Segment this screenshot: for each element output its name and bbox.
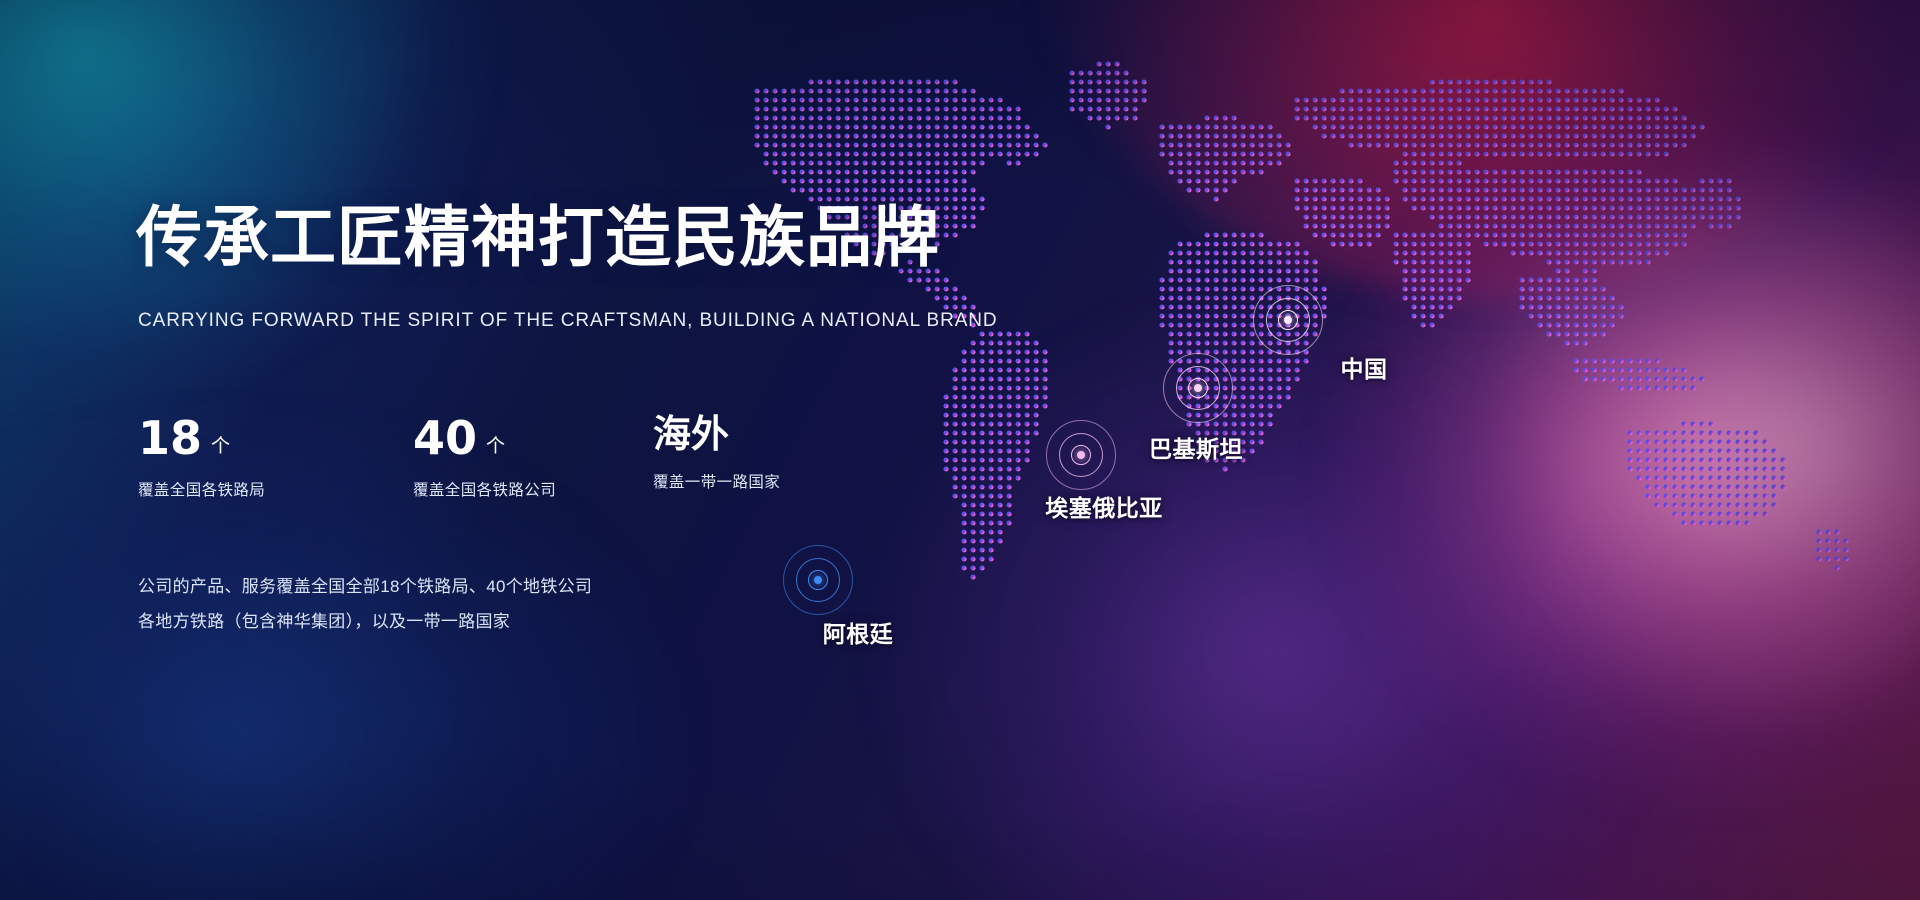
page-title: 传承工匠精神打造民族品牌 [136, 205, 940, 271]
stat-item: 18个覆盖全国各铁路局 [138, 415, 413, 500]
body-line-1: 公司的产品、服务覆盖全国全部18个铁路局、40个地铁公司 [138, 570, 592, 605]
stat-item: 40个覆盖全国各铁路公司 [413, 415, 653, 500]
stat-value: 18个 [138, 415, 413, 461]
stat-value: 40个 [413, 415, 653, 461]
stat-caption: 覆盖一带一路国家 [653, 470, 893, 492]
map-marker-label: 阿根廷 [823, 615, 894, 649]
stat-number: 40 [413, 415, 477, 461]
stat-unit: 个 [211, 437, 230, 456]
body-copy: 公司的产品、服务覆盖全国全部18个铁路局、40个地铁公司 各地方铁路（包含神华集… [138, 570, 592, 640]
stat-number: 海外 [653, 415, 729, 453]
stat-caption: 覆盖全国各铁路公司 [413, 478, 653, 500]
content-column: 传承工匠精神打造民族品牌 CARRYING FORWARD THE SPIRIT… [0, 0, 1000, 900]
stat-number: 18 [138, 415, 202, 461]
map-marker-label: 巴基斯坦 [1149, 430, 1243, 464]
map-marker-label: 中国 [1341, 350, 1388, 384]
page-subtitle: CARRYING FORWARD THE SPIRIT OF THE CRAFT… [138, 310, 998, 332]
stat-item: 海外覆盖一带一路国家 [653, 415, 893, 492]
stat-caption: 覆盖全国各铁路局 [138, 478, 413, 500]
stats-row: 18个覆盖全国各铁路局40个覆盖全国各铁路公司海外覆盖一带一路国家 [138, 415, 893, 500]
stat-unit: 个 [486, 437, 505, 456]
banner-stage: 传承工匠精神打造民族品牌 CARRYING FORWARD THE SPIRIT… [0, 0, 1920, 900]
body-line-2: 各地方铁路（包含神华集团），以及一带一路国家 [138, 605, 592, 640]
stat-value: 海外 [653, 415, 893, 453]
map-marker-label: 埃塞俄比亚 [1045, 489, 1163, 523]
